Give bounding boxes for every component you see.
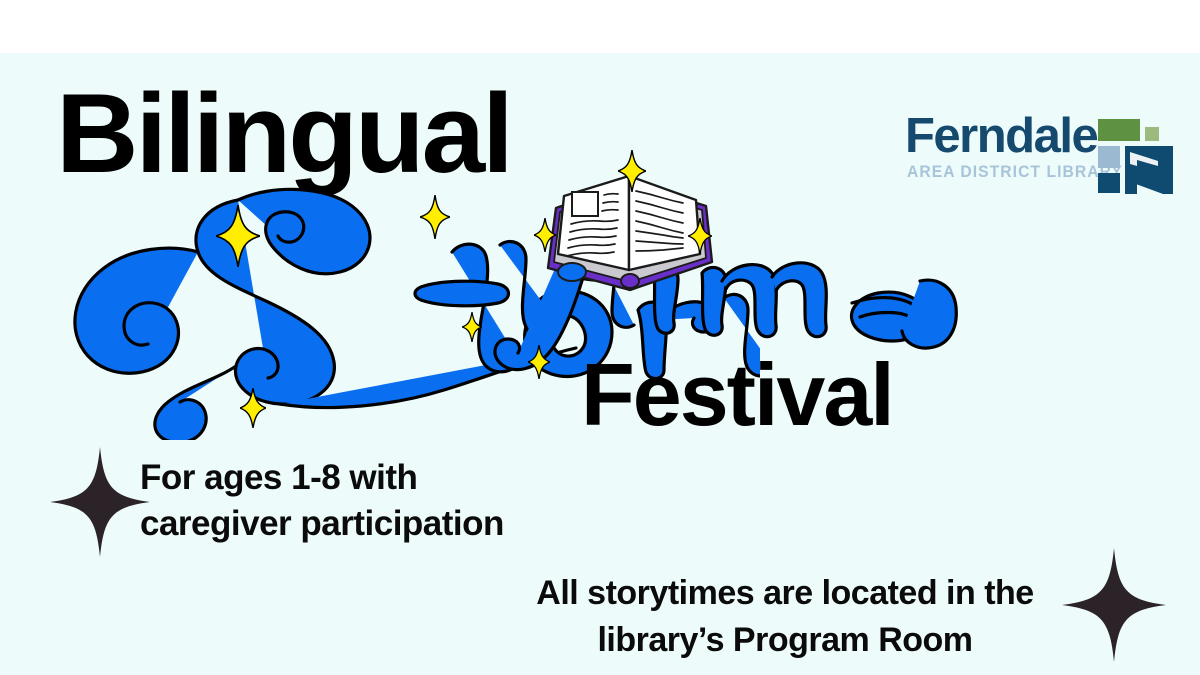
sparkle-icon [216,205,260,267]
logo-wordmark: Ferndale [905,112,1097,161]
library-logo: Ferndale AREA DISTRICT LIBRARY [905,112,1175,198]
logo-subtitle: AREA DISTRICT LIBRARY [907,163,1123,182]
sparkle-icon [688,218,712,254]
sparkle-icon [618,150,646,192]
sparkle-icon [462,312,482,342]
sparkle-icon [240,388,266,428]
sparkle-icon [528,345,550,379]
poster-canvas: Bilingual [0,0,1200,675]
info-room-text: All storytimes are located in the librar… [500,570,1070,664]
headline-word-festival: Festival [581,351,893,439]
logo-book-mark-icon [1097,116,1175,194]
info-ages-text: For ages 1-8 with caregiver participatio… [140,455,504,547]
sparkle-icon [420,195,450,239]
headline-word-bilingual: Bilingual [56,78,511,190]
four-point-star-icon [1062,548,1166,662]
background-top-band [0,0,1200,53]
sparkle-icon [534,218,556,252]
four-point-star-icon [50,447,150,557]
